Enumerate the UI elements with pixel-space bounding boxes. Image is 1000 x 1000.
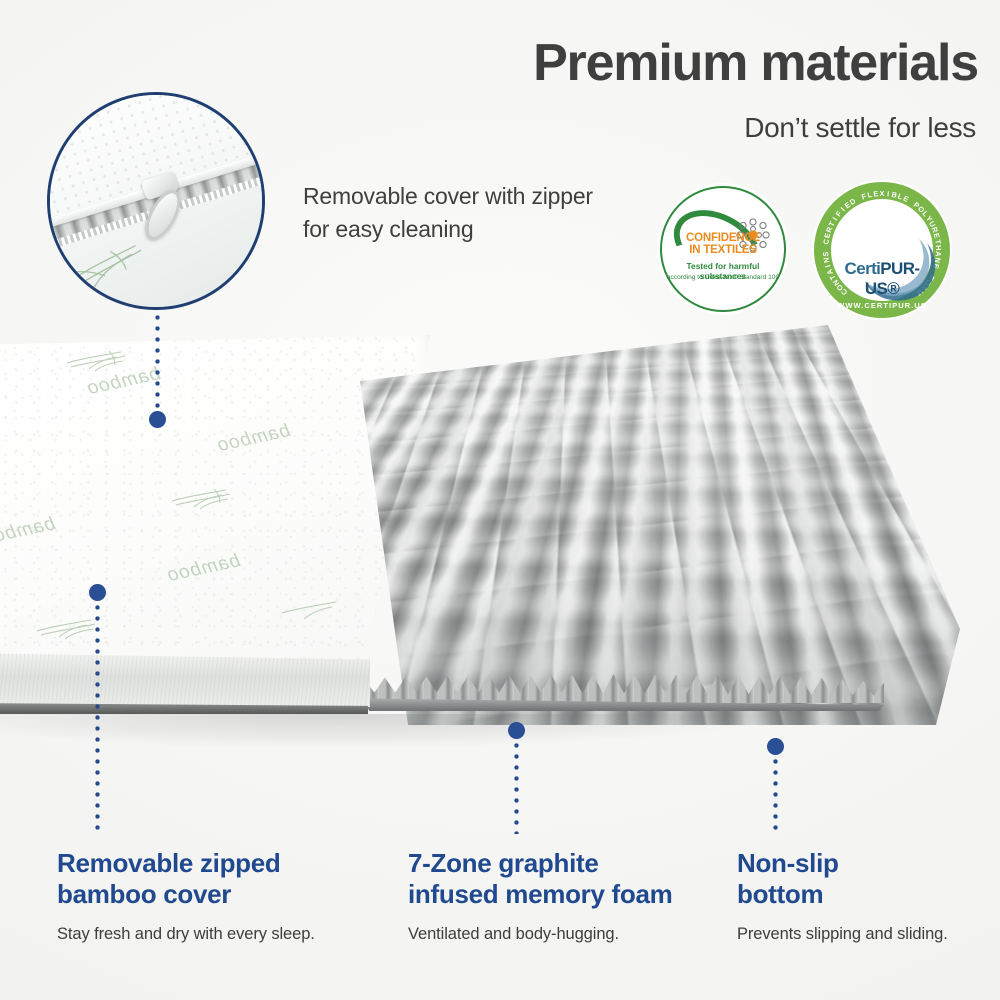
bamboo-print-label: bamboo [85,363,163,400]
cover-side-band [0,653,370,707]
zipper-callout-text: Removable cover with zipper for easy cle… [303,180,633,245]
foam-top-surface [360,325,960,725]
page-title: Premium materials [533,36,978,91]
bamboo-leaf-icon [280,597,350,623]
feature-bamboo-cover: Removable zipped bamboo cover Stay fresh… [57,848,377,944]
callout-dot-bamboo-cover [89,584,106,601]
callout-dot-cover-zip [149,411,166,428]
foam-peaks-texture-overlay [360,325,960,335]
certipur-word-light: Certi [845,259,881,278]
zipper-callout-line1: Removable cover with zipper [303,180,633,213]
bamboo-print-label: bamboo [215,420,293,457]
feature-non-slip: Non-slip bottom Prevents slipping and sl… [737,848,987,944]
certipur-ring-char: S [821,251,830,257]
product-marketing-image: bamboo bamboo bamboo bamboo bamboo bambo… [0,0,1000,1000]
certipur-inner-disc: CertiPUR-US® [831,199,933,301]
certipur-ring-char: N [822,257,832,264]
feature-caption: Stay fresh and dry with every sleep. [57,925,377,944]
bamboo-leaf-icon [170,485,240,511]
bamboo-print-label: bamboo [0,513,57,550]
feature-caption-row: Removable zipped bamboo cover Stay fresh… [0,840,1000,1000]
feature-memory-foam: 7-Zone graphite infused memory foam Vent… [408,848,708,944]
feature-title: Removable zipped bamboo cover [57,848,377,910]
certipur-ring-char: I [887,189,890,198]
feature-title: 7-Zone graphite infused memory foam [408,848,708,910]
zipper-closeup-inset [47,92,265,310]
mattress-topper-illustration: bamboo bamboo bamboo bamboo bamboo bambo… [0,325,960,785]
bamboo-leaf-icon [52,237,154,301]
bamboo-leaf-icon [65,347,135,373]
connector-line-memory-foam [514,740,519,834]
connector-line-cover-zip [155,312,160,410]
feature-caption: Ventilated and body-hugging. [408,925,708,944]
certipur-ring-char: L [867,190,873,200]
oeko-title: CONFIDENCE IN TEXTILES [662,232,784,257]
certipur-us-badge: CONTAINS CERTIFIED FLEXIBLE POLYURETHANE… [812,180,952,320]
certipur-ring-char: X [880,189,885,198]
callout-dot-memory-foam [508,722,525,739]
certipur-ring-char [821,247,830,249]
egg-crate-foam-slab [360,325,960,725]
bamboo-print-label: bamboo [165,550,243,587]
oeko-title-line1: CONFIDENCE [662,232,784,244]
foam-lighting [360,325,960,725]
feature-title: Non-slip bottom [737,848,987,910]
zipper-callout-line2: for easy cleaning [303,213,633,246]
page-subtitle: Don’t settle for less [744,112,976,144]
connector-line-bamboo-cover [95,602,100,834]
certipur-ring-char: C [821,238,831,245]
oeko-standard: according to Oeko-Tex® Standard 100 [665,274,781,282]
oeko-tex-badge: CONFIDENCE IN TEXTILES Tested for harmfu… [660,186,786,312]
drop-shadow [0,714,920,760]
certipur-ring-char: E [873,189,879,198]
connector-line-non-slip [773,756,778,834]
bamboo-leaf-icon [0,490,8,516]
certipur-wordmark: CertiPUR-US® [831,259,933,299]
feature-caption: Prevents slipping and sliding. [737,925,987,944]
callout-dot-non-slip [767,738,784,755]
oeko-title-line2: IN TEXTILES [662,244,784,256]
